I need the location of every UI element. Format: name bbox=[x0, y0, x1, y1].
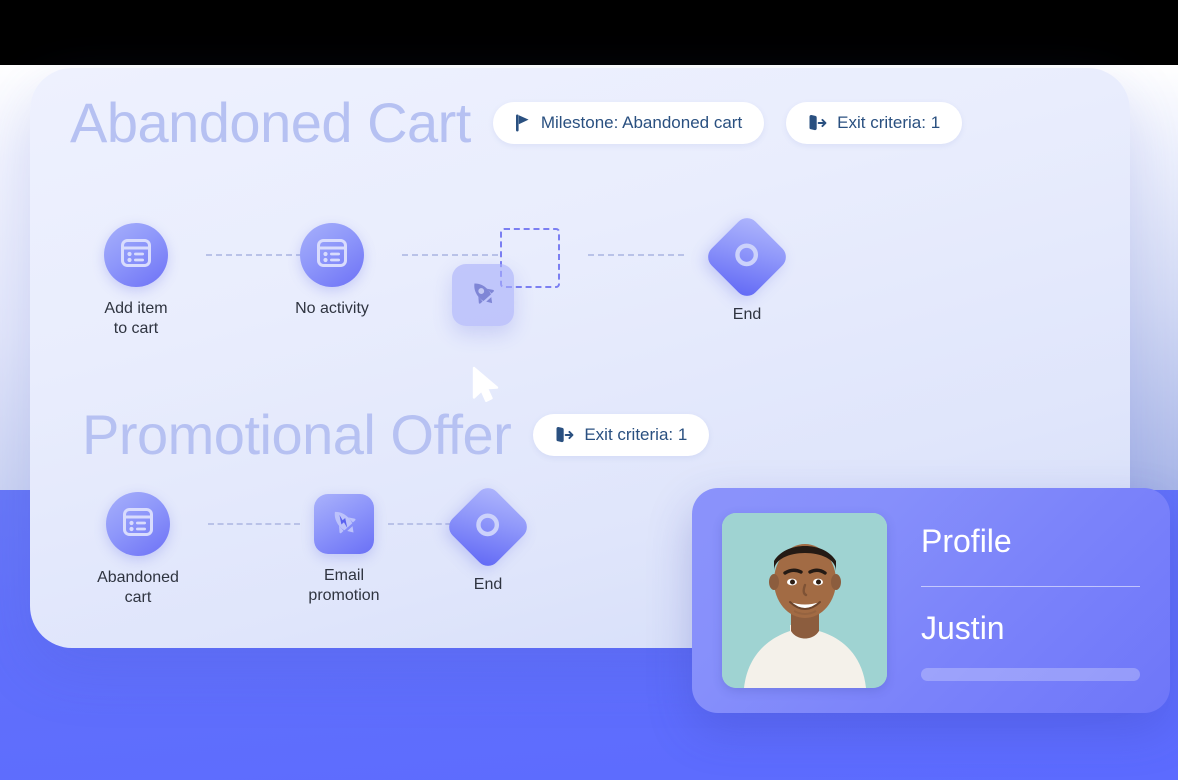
node-label: Add item to cart bbox=[104, 299, 167, 339]
form-list-icon bbox=[317, 239, 347, 272]
form-list-icon bbox=[121, 239, 151, 272]
avatar bbox=[722, 513, 887, 688]
node-label: Abandoned cart bbox=[97, 568, 179, 608]
profile-name: Justin bbox=[921, 611, 1140, 646]
node-shape-circle bbox=[104, 223, 168, 287]
ring-icon bbox=[475, 512, 501, 543]
node-email-promotion[interactable]: Email promotion bbox=[274, 494, 414, 606]
node-shape-square bbox=[314, 494, 374, 554]
node-abandoned-cart[interactable]: Abandoned cart bbox=[68, 492, 208, 608]
node-shape-circle bbox=[106, 492, 170, 556]
profile-placeholder-bar bbox=[921, 668, 1140, 681]
rocket-icon bbox=[467, 277, 499, 314]
node-no-activity[interactable]: No activity bbox=[262, 223, 402, 319]
node-label: End bbox=[474, 575, 502, 595]
profile-title: Profile bbox=[921, 524, 1140, 559]
profile-card[interactable]: Profile Justin bbox=[692, 488, 1170, 713]
form-list-icon bbox=[123, 508, 153, 541]
connector-3 bbox=[588, 254, 684, 256]
node-shape-diamond bbox=[444, 483, 532, 571]
rocket-bolt-icon bbox=[327, 505, 361, 544]
flow-row-abandoned-cart: Add item to cart bbox=[30, 68, 1130, 428]
node-shape-wrap bbox=[716, 213, 778, 301]
profile-divider bbox=[921, 586, 1140, 587]
node-shape-wrap bbox=[457, 483, 519, 571]
node-end[interactable]: End bbox=[677, 213, 817, 325]
profile-body: Profile Justin bbox=[921, 515, 1140, 686]
ring-icon bbox=[734, 242, 760, 273]
node-shape-diamond bbox=[703, 213, 791, 301]
node-label: End bbox=[733, 305, 761, 325]
node-end[interactable]: End bbox=[418, 483, 558, 595]
node-add-item-to-cart[interactable]: Add item to cart bbox=[66, 223, 206, 339]
screenshot-stage: Abandoned Cart Milestone: Abandoned cart bbox=[0, 0, 1178, 780]
connector-2 bbox=[402, 254, 498, 256]
node-label: No activity bbox=[295, 299, 369, 319]
node-label: Email promotion bbox=[308, 566, 379, 606]
dragged-step-tile[interactable] bbox=[452, 264, 514, 326]
node-shape-circle bbox=[300, 223, 364, 287]
